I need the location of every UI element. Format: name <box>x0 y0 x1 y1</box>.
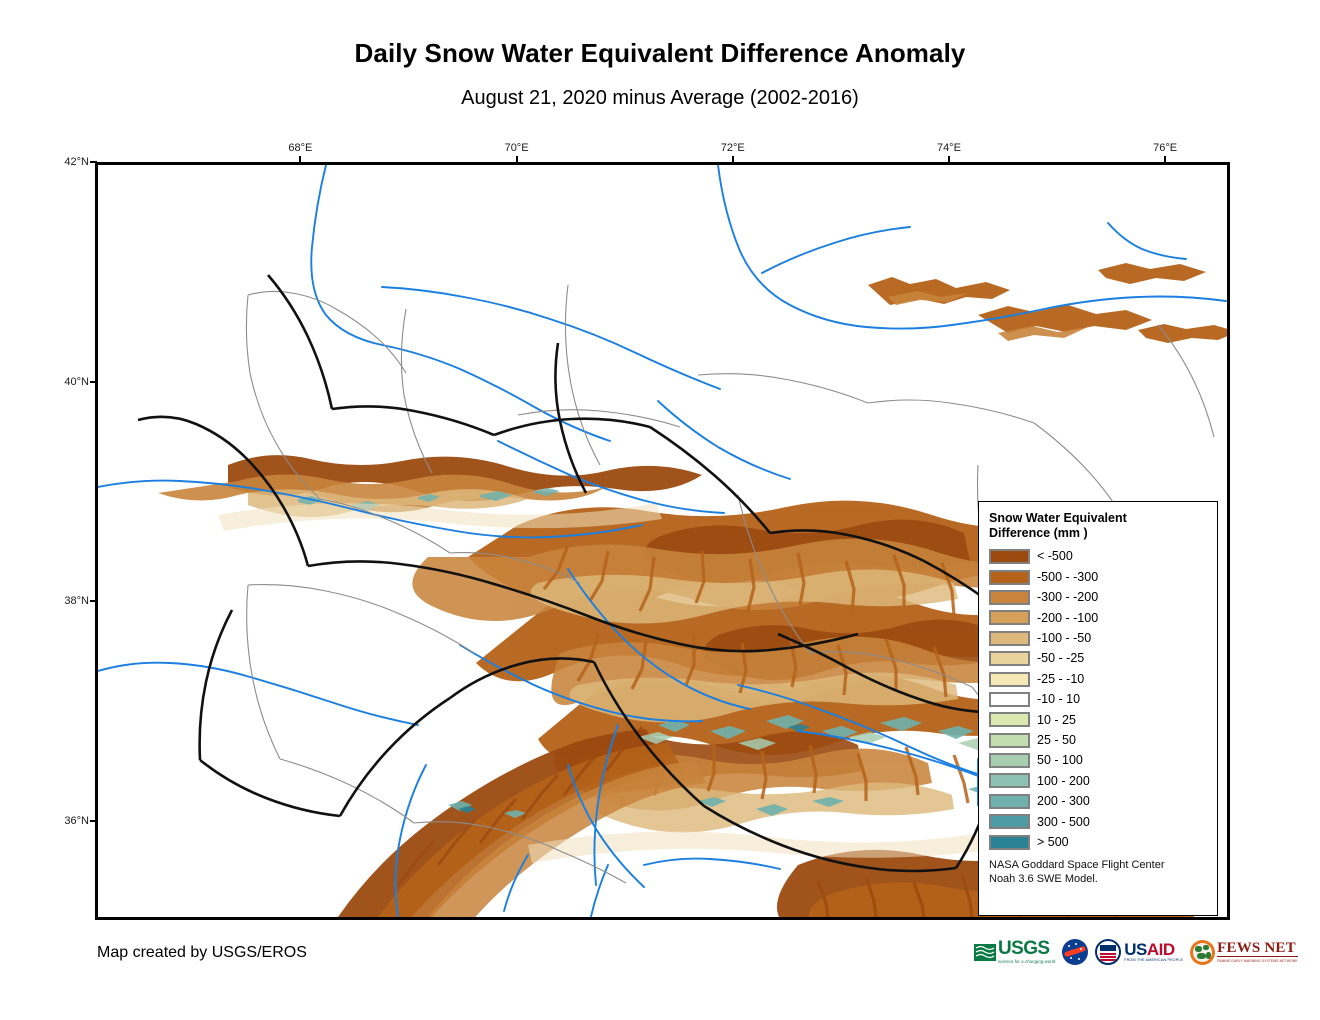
usaid-aid-text: AID <box>1147 940 1175 959</box>
legend-swatch <box>989 570 1030 585</box>
legend-label: 300 - 500 <box>1037 816 1090 829</box>
usaid-seal-icon <box>1095 939 1121 965</box>
legend-label: 200 - 300 <box>1037 795 1090 808</box>
lon-tick-label: 74°E <box>937 142 961 154</box>
usaid-tagline: FROM THE AMERICAN PEOPLE <box>1124 958 1183 962</box>
fewsnet-wordmark: FEWS NET <box>1217 941 1298 957</box>
legend-row[interactable]: -300 - -200 <box>989 587 1209 607</box>
legend-row[interactable]: -25 - -10 <box>989 669 1209 689</box>
usgs-wordmark: USGS <box>998 940 1055 957</box>
legend-label: > 500 <box>1037 836 1069 849</box>
legend-label: < -500 <box>1037 550 1073 563</box>
nasa-meatball-icon <box>1062 939 1088 965</box>
legend-label: -100 - -50 <box>1037 632 1091 645</box>
legend-label: 50 - 100 <box>1037 754 1083 767</box>
legend-swatch <box>989 651 1030 666</box>
legend-swatch <box>989 733 1030 748</box>
legend-swatch <box>989 835 1030 850</box>
legend-row[interactable]: -500 - -300 <box>989 567 1209 587</box>
legend-class-list: < -500-500 - -300-300 - -200-200 - -100-… <box>989 547 1209 853</box>
legend-label: -500 - -300 <box>1037 571 1098 584</box>
map-credit: Map created by USGS/EROS <box>97 944 307 962</box>
usaid-us-text: US <box>1124 940 1147 959</box>
legend-row[interactable]: 50 - 100 <box>989 750 1209 770</box>
lat-tick-label: 38°N <box>47 595 89 607</box>
legend-source-line2: Noah 3.6 SWE Model. <box>989 873 1209 887</box>
legend-swatch <box>989 631 1030 646</box>
legend-swatch <box>989 773 1030 788</box>
legend-swatch <box>989 753 1030 768</box>
legend-source-line1: NASA Goddard Space Flight Center <box>989 859 1209 873</box>
usgs-logo[interactable]: USGS science for a changing world <box>974 937 1055 967</box>
legend-row[interactable]: 25 - 50 <box>989 730 1209 750</box>
legend-swatch <box>989 672 1030 687</box>
legend-label: 25 - 50 <box>1037 734 1076 747</box>
lat-tick-label: 36°N <box>47 815 89 827</box>
nasa-logo[interactable] <box>1062 937 1088 967</box>
lat-tick-label: 42°N <box>47 156 89 168</box>
legend-swatch <box>989 610 1030 625</box>
legend-title: Snow Water Equivalent Difference (mm ) <box>989 511 1209 542</box>
legend-label: 10 - 25 <box>1037 714 1076 727</box>
usaid-logo[interactable]: USAID FROM THE AMERICAN PEOPLE <box>1095 937 1183 967</box>
legend-row[interactable]: -10 - 10 <box>989 689 1209 709</box>
lon-tick-label: 70°E <box>505 142 529 154</box>
page-title: Daily Snow Water Equivalent Difference A… <box>0 38 1320 69</box>
legend-title-line2: Difference (mm ) <box>989 526 1209 541</box>
legend-row[interactable]: 200 - 300 <box>989 791 1209 811</box>
lon-tick-label: 76°E <box>1153 142 1177 154</box>
legend-label: -50 - -25 <box>1037 652 1084 665</box>
usgs-tagline: science for a changing world <box>998 959 1055 964</box>
legend-swatch <box>989 712 1030 727</box>
legend-source-note: NASA Goddard Space Flight Center Noah 3.… <box>989 859 1209 887</box>
fewsnet-tagline: FAMINE EARLY WARNING SYSTEMS NETWORK <box>1217 959 1298 963</box>
legend-swatch <box>989 692 1030 707</box>
legend-title-line1: Snow Water Equivalent <box>989 511 1209 526</box>
fewsnet-globe-icon <box>1190 940 1215 965</box>
legend-label: -300 - -200 <box>1037 591 1098 604</box>
lon-tick-label: 72°E <box>721 142 745 154</box>
lon-tick-label: 68°E <box>288 142 312 154</box>
usgs-wave-icon <box>974 944 996 961</box>
legend-label: -200 - -100 <box>1037 612 1098 625</box>
legend-label: -25 - -10 <box>1037 673 1084 686</box>
legend-row[interactable]: -100 - -50 <box>989 628 1209 648</box>
fewsnet-logo[interactable]: FEWS NET FAMINE EARLY WARNING SYSTEMS NE… <box>1190 937 1298 967</box>
legend-row[interactable]: 300 - 500 <box>989 812 1209 832</box>
lat-tick-label: 40°N <box>47 376 89 388</box>
legend-label: -10 - 10 <box>1037 693 1080 706</box>
legend-row[interactable]: -50 - -25 <box>989 648 1209 668</box>
usaid-wordmark: USAID <box>1124 942 1183 957</box>
legend-row[interactable]: 10 - 25 <box>989 710 1209 730</box>
legend-row[interactable]: -200 - -100 <box>989 608 1209 628</box>
legend-label: 100 - 200 <box>1037 775 1090 788</box>
title-block: Daily Snow Water Equivalent Difference A… <box>0 0 1320 110</box>
page-subtitle: August 21, 2020 minus Average (2002-2016… <box>0 87 1320 110</box>
legend-row[interactable]: < -500 <box>989 547 1209 567</box>
map-legend[interactable]: Snow Water Equivalent Difference (mm ) <… <box>978 501 1218 916</box>
legend-swatch <box>989 590 1030 605</box>
legend-swatch <box>989 549 1030 564</box>
legend-row[interactable]: 100 - 200 <box>989 771 1209 791</box>
logo-bar: USGS science for a changing world USAID … <box>974 935 1298 969</box>
legend-row[interactable]: > 500 <box>989 832 1209 852</box>
legend-swatch <box>989 814 1030 829</box>
legend-swatch <box>989 794 1030 809</box>
